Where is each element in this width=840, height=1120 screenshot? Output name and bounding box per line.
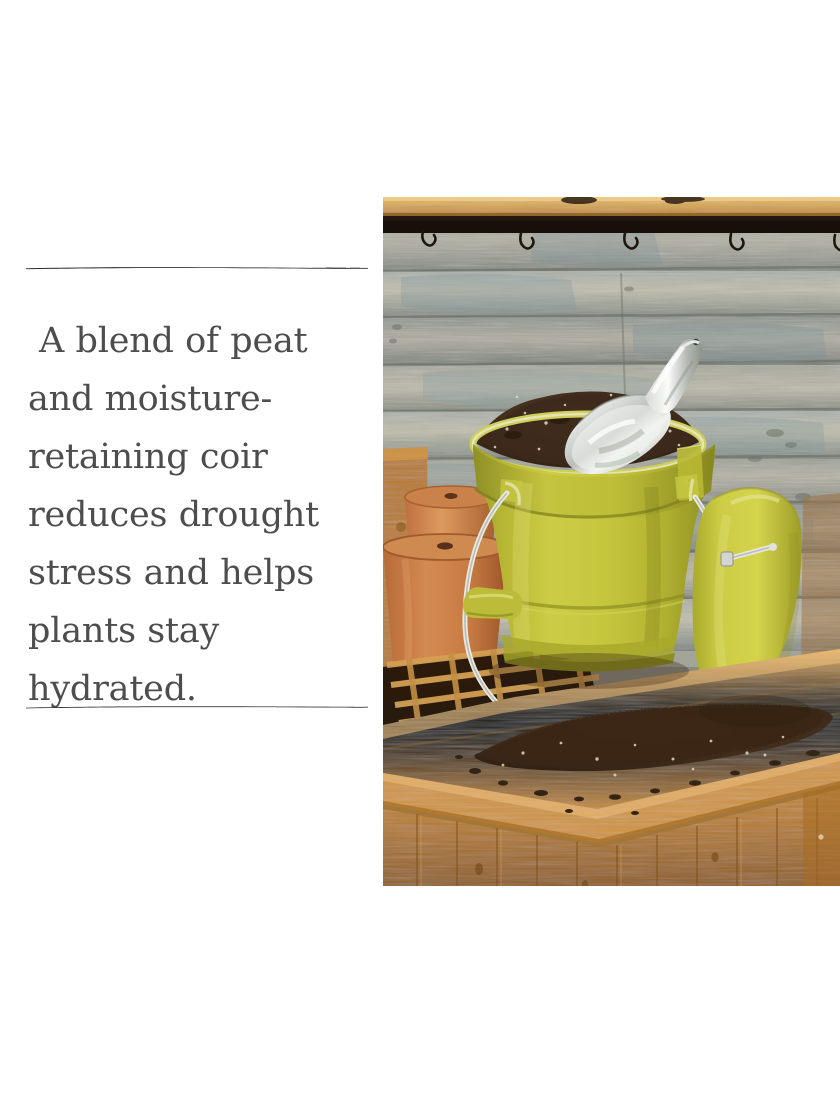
potting-bench-photograph (383, 197, 840, 886)
top-divider-rule (26, 266, 368, 270)
pull-quote-text: A blend of peat and moisture-retaining c… (28, 312, 364, 718)
page-canvas: A blend of peat and moisture-retaining c… (0, 0, 840, 1120)
pull-quote-panel: A blend of peat and moisture-retaining c… (0, 250, 375, 720)
